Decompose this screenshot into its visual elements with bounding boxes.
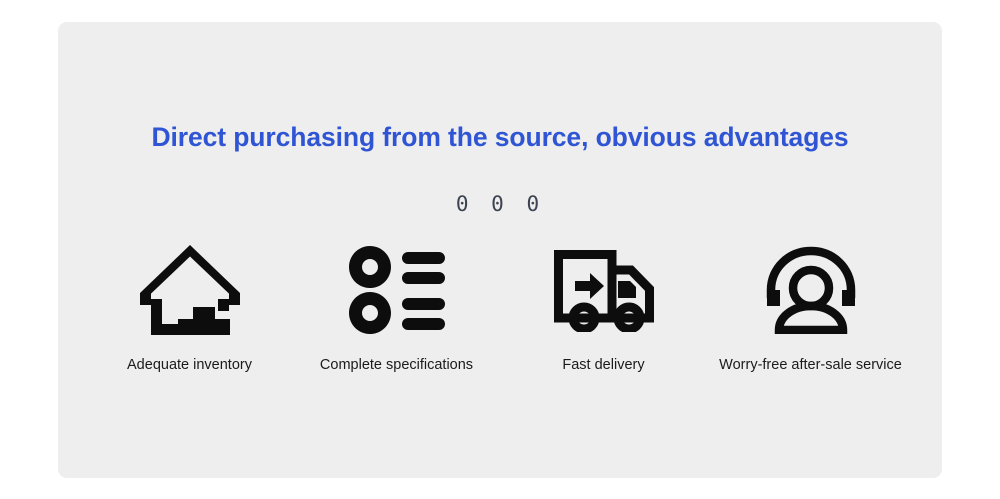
title-divider-ornament: 0 0 0 — [58, 194, 942, 215]
list-specifications-icon — [347, 240, 447, 340]
headset-support-icon — [763, 240, 859, 340]
feature-item-delivery[interactable]: Fast delivery — [500, 240, 707, 373]
feature-label: Worry-free after-sale service — [719, 357, 902, 373]
feature-item-specifications[interactable]: Complete specifications — [293, 240, 500, 373]
feature-item-inventory[interactable]: Adequate inventory — [86, 240, 293, 373]
delivery-truck-icon — [552, 240, 656, 340]
page-root: Direct purchasing from the source, obvio… — [0, 0, 1000, 499]
features-row: Adequate inventory Co — [58, 240, 942, 373]
warehouse-icon — [138, 240, 242, 340]
feature-label: Complete specifications — [320, 357, 473, 373]
feature-label: Adequate inventory — [127, 357, 252, 373]
advantages-panel: Direct purchasing from the source, obvio… — [58, 22, 942, 478]
feature-label: Fast delivery — [562, 357, 644, 373]
page-title: Direct purchasing from the source, obvio… — [58, 122, 942, 153]
feature-item-support[interactable]: Worry-free after-sale service — [707, 240, 914, 373]
